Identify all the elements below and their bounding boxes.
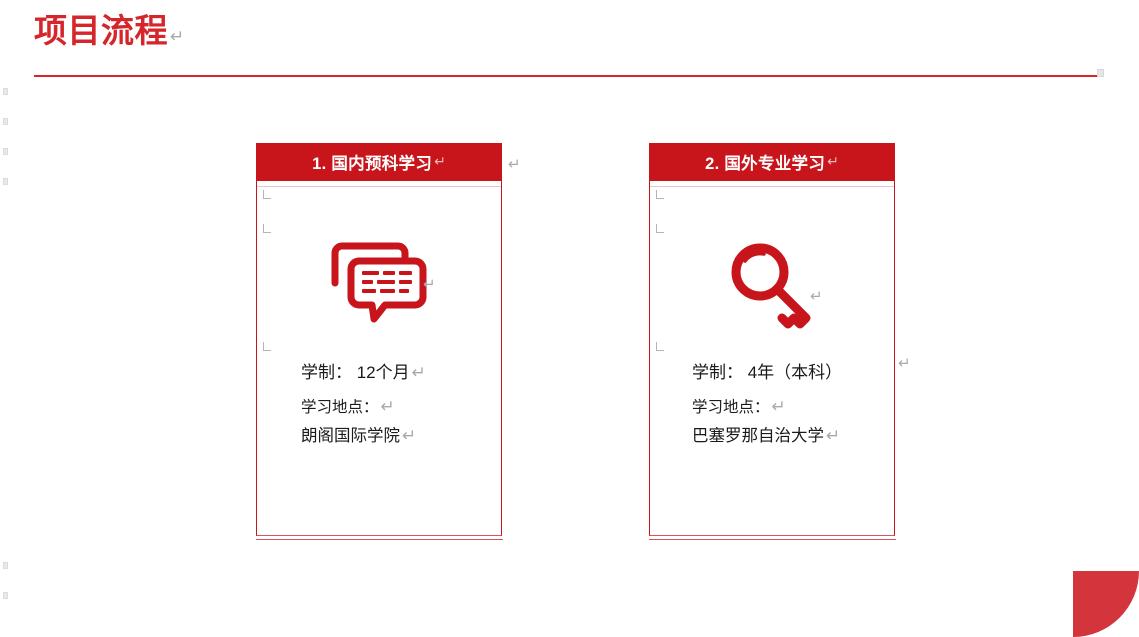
card-2-header: 2. 国外专业学习 ↵	[649, 143, 895, 181]
paragraph-mark-icon: ↵	[412, 363, 426, 383]
corner-decoration-shape	[1073, 571, 1139, 637]
card-2-duration-text: 学制： 4年（本科）	[692, 363, 842, 382]
card-1-body: ↵ 学制： 12个月↵ 学习地点：↵ 朗阁国际学院↵	[256, 181, 502, 536]
revision-tick	[3, 118, 8, 125]
card-1-duration-text: 学制： 12个月	[301, 363, 410, 382]
cell-end-mark	[263, 224, 271, 233]
title-underline-rule	[34, 75, 1101, 77]
card-1-location-value: 朗阁国际学院	[301, 427, 400, 445]
paragraph-mark-icon: ↵	[381, 397, 395, 417]
revision-tick	[3, 562, 8, 569]
paragraph-mark-icon: ↵	[508, 155, 521, 173]
card-1-icon-area: ↵	[257, 239, 501, 325]
revision-tick	[3, 178, 8, 185]
card-2-text-block: 学制： 4年（本科） 学习地点：↵ 巴塞罗那自治大学↵	[692, 363, 844, 447]
key-icon	[722, 239, 822, 335]
revision-tick-strip	[0, 0, 14, 637]
card-2-location-label: 学习地点：	[692, 399, 770, 416]
card-2-location-label-line: 学习地点：↵	[692, 399, 844, 418]
paragraph-mark-icon: ↵	[827, 155, 839, 169]
card-1-location-value-line: 朗阁国际学院↵	[301, 427, 426, 447]
paragraph-mark-icon: ↵	[898, 354, 911, 372]
revision-tick	[3, 592, 8, 599]
cell-end-mark	[656, 342, 664, 351]
rule-end-marker	[1097, 69, 1104, 77]
paragraph-mark-icon: ↵	[402, 426, 416, 446]
card-1-location-label: 学习地点：	[301, 399, 379, 416]
card-2-duration-line: 学制： 4年（本科）	[692, 363, 844, 383]
program-card-2[interactable]: 2. 国外专业学习 ↵ ↵ 学制： 4年（本科） 学习地点：↵	[649, 143, 895, 536]
cell-end-mark	[656, 224, 664, 233]
paragraph-mark-icon: ↵	[772, 397, 786, 417]
card-2-location-value: 巴塞罗那自治大学	[692, 427, 824, 445]
card-1-text-block: 学制： 12个月↵ 学习地点：↵ 朗阁国际学院↵	[301, 363, 426, 447]
card-2-icon-area: ↵	[650, 239, 894, 335]
paragraph-mark-icon: ↵	[170, 29, 184, 46]
paragraph-mark-icon: ↵	[434, 155, 446, 169]
card-2-location-value-line: 巴塞罗那自治大学↵	[692, 427, 844, 447]
cell-end-mark	[263, 342, 271, 351]
card-2-inner-rule	[650, 186, 894, 187]
card-2-body: ↵ 学制： 4年（本科） 学习地点：↵ 巴塞罗那自治大学↵	[649, 181, 895, 536]
paragraph-mark-icon: ↵	[810, 287, 823, 305]
card-1-header-label: 1. 国内预科学习	[312, 150, 432, 174]
page-title: 项目流程	[34, 12, 168, 50]
page-title-block: 项目流程 ↵	[34, 12, 1104, 50]
revision-tick	[3, 148, 8, 155]
speech-bubbles-icon	[327, 239, 431, 325]
revision-tick	[3, 88, 8, 95]
program-card-1[interactable]: 1. 国内预科学习 ↵	[256, 143, 502, 536]
card-2-header-label: 2. 国外专业学习	[705, 150, 825, 174]
card-1-inner-rule	[257, 186, 501, 187]
paragraph-mark-icon: ↵	[826, 426, 840, 446]
cell-end-mark	[656, 190, 664, 199]
card-1-location-label-line: 学习地点：↵	[301, 399, 426, 418]
cell-end-mark	[263, 190, 271, 199]
paragraph-mark-icon: ↵	[423, 275, 436, 293]
card-1-header: 1. 国内预科学习 ↵	[256, 143, 502, 181]
card-1-duration-line: 学制： 12个月↵	[301, 363, 426, 383]
